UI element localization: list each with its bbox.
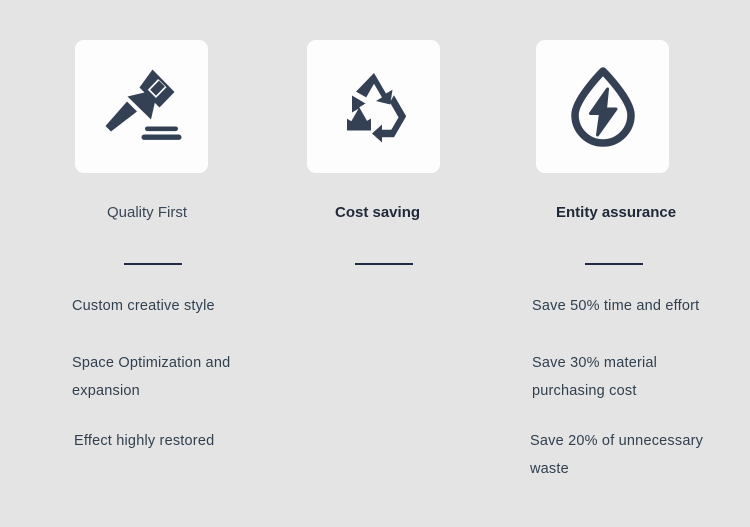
gavel-icon <box>96 61 188 153</box>
feature-column-quality-first: Quality First Custom creative style Spac… <box>12 0 242 527</box>
feature-column-cost-saving: Cost saving Save 50% time and effort Sav… <box>242 0 472 527</box>
heading-divider <box>355 263 413 265</box>
icon-card-entity-assurance <box>536 40 669 173</box>
feature-column-entity-assurance: Entity assurance Exchange, Feedback Clea… <box>472 0 702 527</box>
feature-list-quality-first: Custom creative style Space Optimization… <box>34 292 248 455</box>
card-heading-entity-assurance: Entity assurance <box>556 203 676 223</box>
feature-line-1: Space Optimization and <box>72 355 230 371</box>
list-item: Space Optimization and expansion <box>34 349 248 405</box>
list-item: Effect highly restored <box>34 427 248 455</box>
heading-divider <box>585 263 643 265</box>
card-heading-quality-first: Quality First <box>107 203 187 223</box>
feature-line-1: Custom creative style <box>72 298 215 314</box>
recycle-icon <box>330 63 418 151</box>
water-drop-lightning-icon <box>559 63 647 151</box>
feature-line-1: Effect highly restored <box>74 433 214 449</box>
feature-highlights-board: Quality First Custom creative style Spac… <box>0 0 750 527</box>
icon-card-quality-first <box>75 40 208 173</box>
icon-card-cost-saving <box>307 40 440 173</box>
feature-line-2: expansion <box>72 377 248 405</box>
heading-divider <box>124 263 182 265</box>
card-heading-cost-saving: Cost saving <box>335 203 420 223</box>
feature-columns: Quality First Custom creative style Spac… <box>0 0 750 527</box>
list-item: Custom creative style <box>34 292 248 320</box>
